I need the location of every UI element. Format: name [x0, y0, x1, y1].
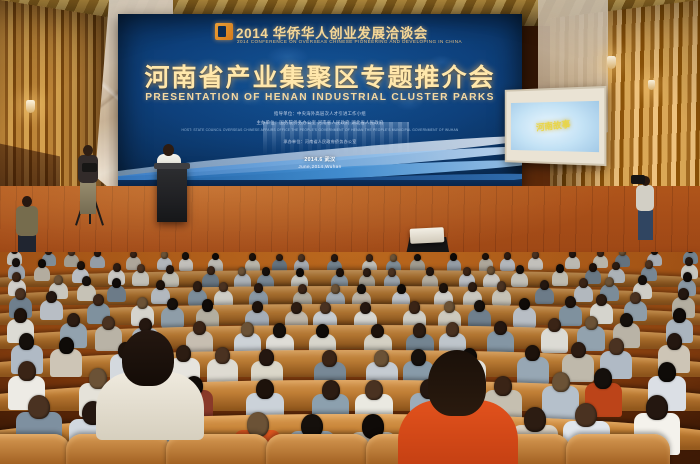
presenter-head — [163, 144, 174, 156]
audience-member-head — [413, 323, 426, 338]
audience-member-head — [579, 278, 588, 288]
audience-member-head — [156, 280, 165, 290]
side-screen-slide: 河南故事 — [511, 101, 599, 152]
audience-member-body — [528, 257, 543, 270]
backdrop-header-en: 2014 CONFERENCE ON OVERSEAS CHINESE PION… — [237, 39, 462, 44]
audience-member-head — [645, 260, 653, 269]
audience-member-head — [363, 268, 371, 277]
audience-member-head — [166, 265, 174, 274]
audience-member-head — [320, 302, 331, 314]
audience-member-head — [252, 301, 263, 313]
audience-member-head — [291, 302, 302, 314]
audience-member-head — [390, 254, 397, 262]
audience-member-head — [112, 278, 121, 288]
audience-member-head — [552, 372, 570, 392]
audience-member-head — [494, 321, 507, 336]
audience-member-head — [646, 395, 668, 420]
standing-attendee-left — [16, 206, 38, 236]
audience-member-head — [193, 321, 206, 336]
audience-member-head — [113, 263, 121, 272]
audience-member-head — [256, 379, 274, 399]
audience-member-head — [463, 267, 471, 276]
videographer-legs — [80, 182, 96, 214]
audience-member-head — [357, 284, 366, 294]
audience-member-head — [316, 324, 329, 339]
backdrop-title-en: PRESENTATION OF HENAN INDUSTRIAL CLUSTER… — [118, 92, 522, 103]
audience-member-head — [137, 264, 145, 273]
photo-camera-icon — [631, 175, 645, 184]
audience-member-head — [409, 301, 420, 313]
audience-member-head — [238, 267, 246, 276]
audience-member-head — [38, 259, 46, 268]
audience-member-head — [374, 350, 389, 367]
audience-member-body — [541, 328, 568, 353]
seat-back — [266, 434, 370, 464]
videographer-head — [83, 145, 93, 156]
video-camera-icon — [82, 163, 97, 172]
audience-member-head — [273, 323, 286, 338]
audience-member-head — [137, 297, 148, 309]
audience-member-head — [571, 342, 586, 359]
audience-member-head — [540, 280, 549, 290]
audience-member-head — [366, 254, 373, 262]
seat-row — [0, 286, 700, 305]
audience-member-head — [259, 349, 274, 366]
audience-member-head — [46, 291, 57, 303]
conference-emblem-icon — [215, 23, 233, 40]
audience-member-head — [585, 316, 598, 331]
audience-member-head — [207, 266, 215, 275]
audience-member-head — [388, 268, 396, 277]
audience-member-head — [82, 276, 91, 286]
audience-member-head — [254, 283, 263, 293]
audience-member-head — [658, 362, 676, 382]
audience-member-head — [322, 380, 340, 400]
audience-member-head — [298, 254, 305, 262]
audience-member-body — [34, 266, 51, 281]
audience-member-head — [331, 254, 338, 262]
audience-member-head — [444, 301, 455, 313]
audience-member-head — [59, 337, 74, 354]
audience-member-head — [630, 292, 641, 304]
audience-member-head — [497, 281, 506, 291]
audience-member-head — [516, 265, 524, 274]
conference-hall-photo: 2014 华侨华人创业发展洽谈会 2014 CONFERENCE ON OVER… — [0, 0, 700, 464]
audience-member-head — [397, 284, 406, 294]
audience-member-head — [93, 294, 104, 306]
audience-member-head — [365, 380, 383, 400]
video-projector — [410, 227, 445, 244]
audience-member-body — [511, 272, 528, 287]
audience-member-head — [336, 268, 344, 277]
audience-member-head — [77, 261, 85, 270]
audience-member-head — [426, 267, 434, 276]
audience-member-head — [620, 313, 633, 328]
audience-member-head — [18, 361, 36, 381]
audience-member-head — [609, 338, 624, 355]
audience-member-head — [548, 318, 561, 333]
audience-member-head — [638, 275, 647, 285]
seated-attendee-foreground-left-head — [122, 330, 174, 386]
audience-member-head — [28, 395, 50, 420]
seated-audience — [0, 252, 700, 464]
side-projection-screen: 河南故事 — [505, 86, 607, 166]
audience-member-head — [219, 282, 228, 292]
standing-attendee-left-head — [22, 196, 32, 207]
audience-member-head — [439, 283, 448, 293]
audience-member-head — [596, 294, 607, 306]
side-screen-slide-text: 河南故事 — [536, 120, 571, 133]
audience-member-head — [468, 282, 477, 292]
backdrop-title-cn: 河南省产业集聚区专题推介会 — [118, 58, 522, 94]
audience-member-head — [19, 333, 34, 350]
audience-member-head — [167, 298, 178, 310]
audience-member-head — [322, 350, 337, 367]
audience-member-head — [67, 313, 80, 328]
audience-member-head — [54, 275, 63, 285]
backdrop-org-line-1: 指导单位：中央海外高层次人才引进工作小组 — [118, 111, 522, 117]
audience-member-head — [182, 252, 189, 260]
audience-member-head — [94, 252, 101, 257]
audience-member-head — [594, 368, 612, 388]
photographer-right-legs — [638, 210, 653, 240]
audience-member-head — [331, 284, 340, 294]
audience-member-head — [683, 272, 692, 282]
audience-member-head — [12, 258, 20, 267]
audience-member-head — [193, 281, 202, 291]
wall-sconce-light — [648, 80, 655, 90]
audience-member-head — [589, 263, 597, 272]
audience-member-head — [565, 296, 576, 308]
audience-member-head — [249, 253, 256, 261]
audience-member-head — [556, 264, 564, 273]
audience-member-head — [14, 308, 27, 323]
audience-member-head — [446, 322, 459, 337]
audience-member-head — [673, 308, 686, 323]
audience-member-head — [474, 300, 485, 312]
speaker-podium — [157, 166, 187, 222]
audience-member-head — [15, 288, 26, 300]
audience-member-head — [215, 347, 230, 364]
photographer-right-aisle — [636, 185, 654, 211]
audience-member-head — [504, 252, 511, 260]
audience-member-head — [298, 284, 307, 294]
wall-sconce-light — [607, 56, 616, 69]
seat-back — [566, 434, 670, 464]
audience-member-head — [494, 376, 512, 396]
audience-member-head — [202, 299, 213, 311]
audience-member-head — [667, 333, 682, 350]
audience-member-head — [575, 403, 597, 428]
audience-member-head — [102, 316, 115, 331]
seated-attendee-orange-top-head — [428, 350, 486, 416]
audience-member-head — [276, 254, 283, 262]
wall-sconce-light — [26, 100, 35, 113]
audience-member-head — [411, 349, 426, 366]
audience-member-head — [262, 267, 270, 276]
audience-member-head — [241, 322, 254, 337]
seat-back — [0, 434, 70, 464]
audience-member-head — [176, 345, 191, 362]
audience-member-head — [524, 407, 546, 432]
audience-member-head — [296, 268, 304, 277]
audience-member-body — [513, 307, 536, 328]
audience-member-head — [605, 277, 614, 287]
